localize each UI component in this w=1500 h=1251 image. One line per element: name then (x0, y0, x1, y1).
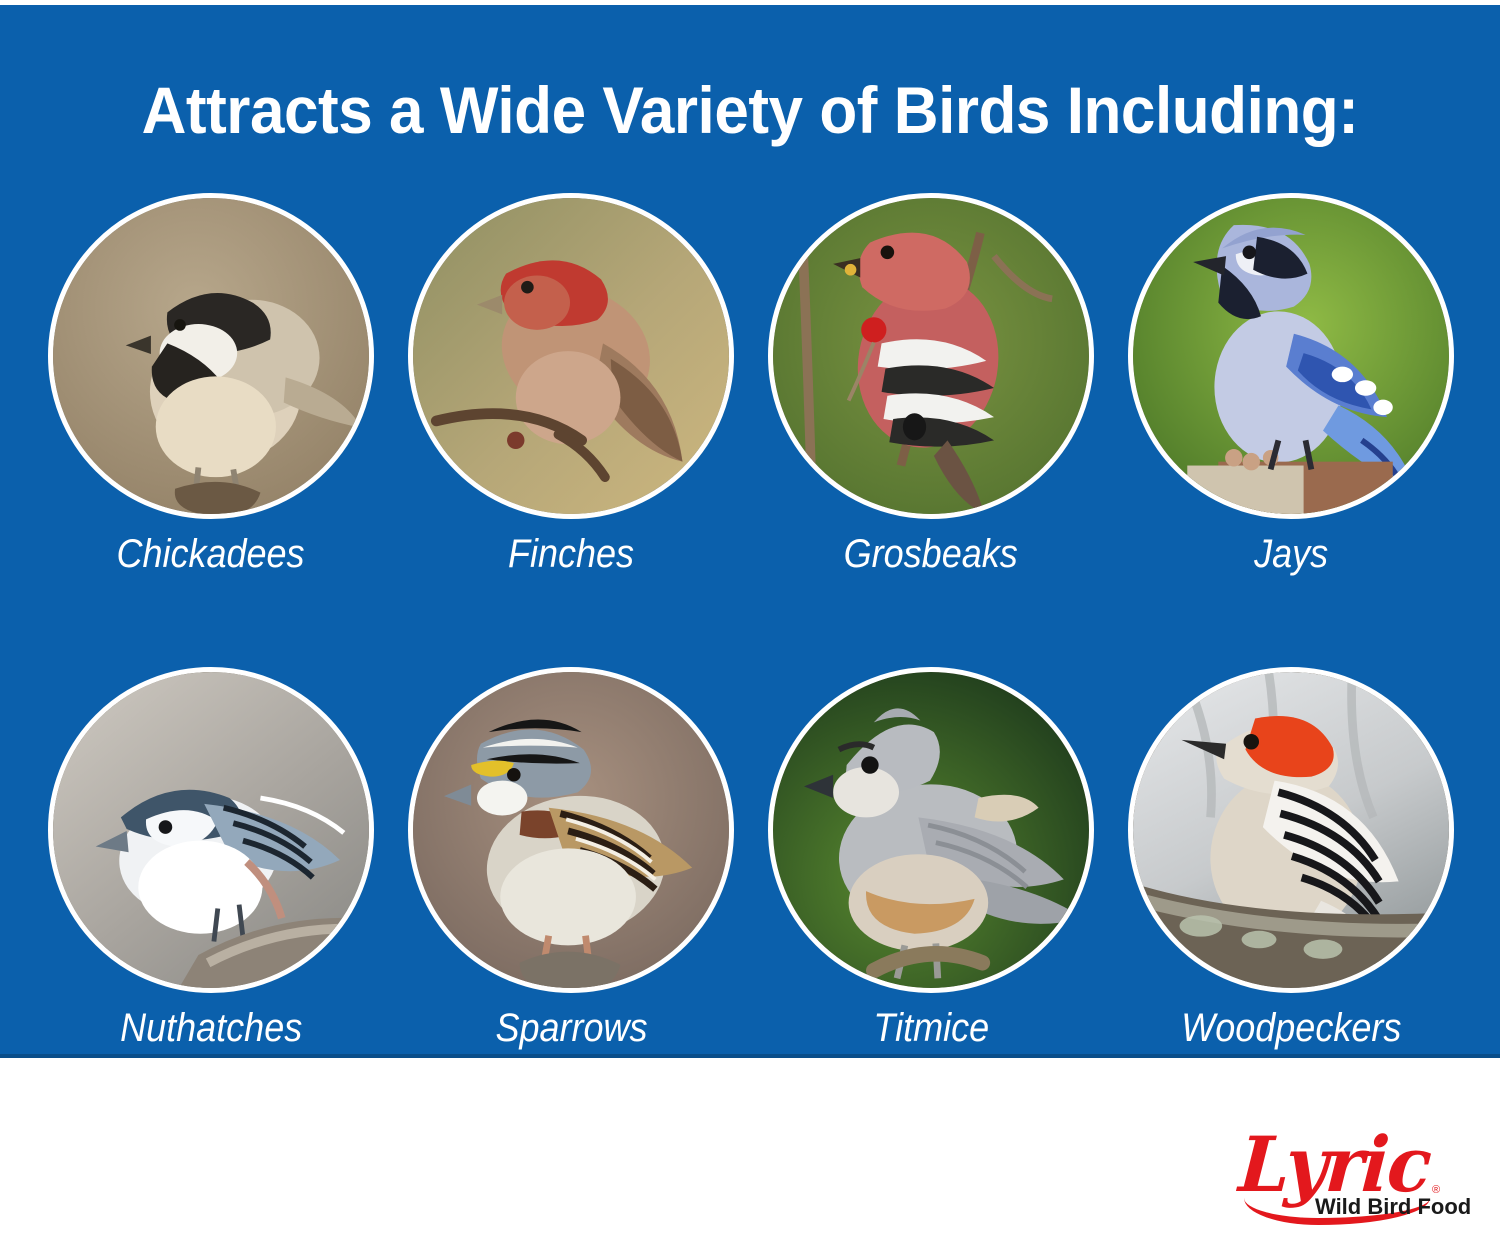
bird-grid: Chickadees (46, 193, 1456, 1049)
bird-circle-finches[interactable] (408, 193, 734, 519)
bird-cell-jays[interactable]: Jays (1126, 193, 1456, 575)
bird-cell-chickadees[interactable]: Chickadees (46, 193, 376, 575)
finch-photo (413, 198, 729, 514)
blue-jay-photo (1133, 198, 1449, 514)
bird-circle-chickadees[interactable] (48, 193, 374, 519)
promo-panel: Attracts a Wide Variety of Birds Includi… (0, 5, 1500, 1058)
bird-cell-sparrows[interactable]: Sparrows (406, 667, 736, 1049)
bird-circle-grosbeaks[interactable] (768, 193, 1094, 519)
bird-cell-titmice[interactable]: Titmice (766, 667, 1096, 1049)
chickadee-photo (53, 198, 369, 514)
bird-circle-nuthatches[interactable] (48, 667, 374, 993)
bird-label: Nuthatches (120, 1007, 302, 1049)
bird-circle-woodpeckers[interactable] (1128, 667, 1454, 993)
bird-label: Finches (508, 533, 634, 575)
bird-cell-finches[interactable]: Finches (406, 193, 736, 575)
page-title: Attracts a Wide Variety of Birds Includi… (45, 77, 1455, 143)
bird-circle-titmice[interactable] (768, 667, 1094, 993)
bird-label: Grosbeaks (844, 533, 1018, 575)
brand-logo: Lyric ® Wild Bird Food (1242, 1126, 1442, 1230)
bird-cell-grosbeaks[interactable]: Grosbeaks (766, 193, 1096, 575)
bird-label: Woodpeckers (1181, 1007, 1401, 1049)
titmouse-photo (773, 672, 1089, 988)
bird-label: Titmice (873, 1007, 989, 1049)
grosbeak-photo (773, 198, 1089, 514)
sparrow-photo (413, 672, 729, 988)
nuthatch-photo (53, 672, 369, 988)
logo-tagline: Wild Bird Food (1315, 1194, 1471, 1220)
woodpecker-photo (1133, 672, 1449, 988)
bird-circle-sparrows[interactable] (408, 667, 734, 993)
bird-cell-woodpeckers[interactable]: Woodpeckers (1126, 667, 1456, 1049)
bird-cell-nuthatches[interactable]: Nuthatches (46, 667, 376, 1049)
bird-circle-jays[interactable] (1128, 193, 1454, 519)
logo-wordmark: Lyric (1237, 1126, 1432, 1204)
bird-label: Sparrows (495, 1007, 647, 1049)
bird-label: Chickadees (117, 533, 305, 575)
bird-label: Jays (1254, 533, 1328, 575)
